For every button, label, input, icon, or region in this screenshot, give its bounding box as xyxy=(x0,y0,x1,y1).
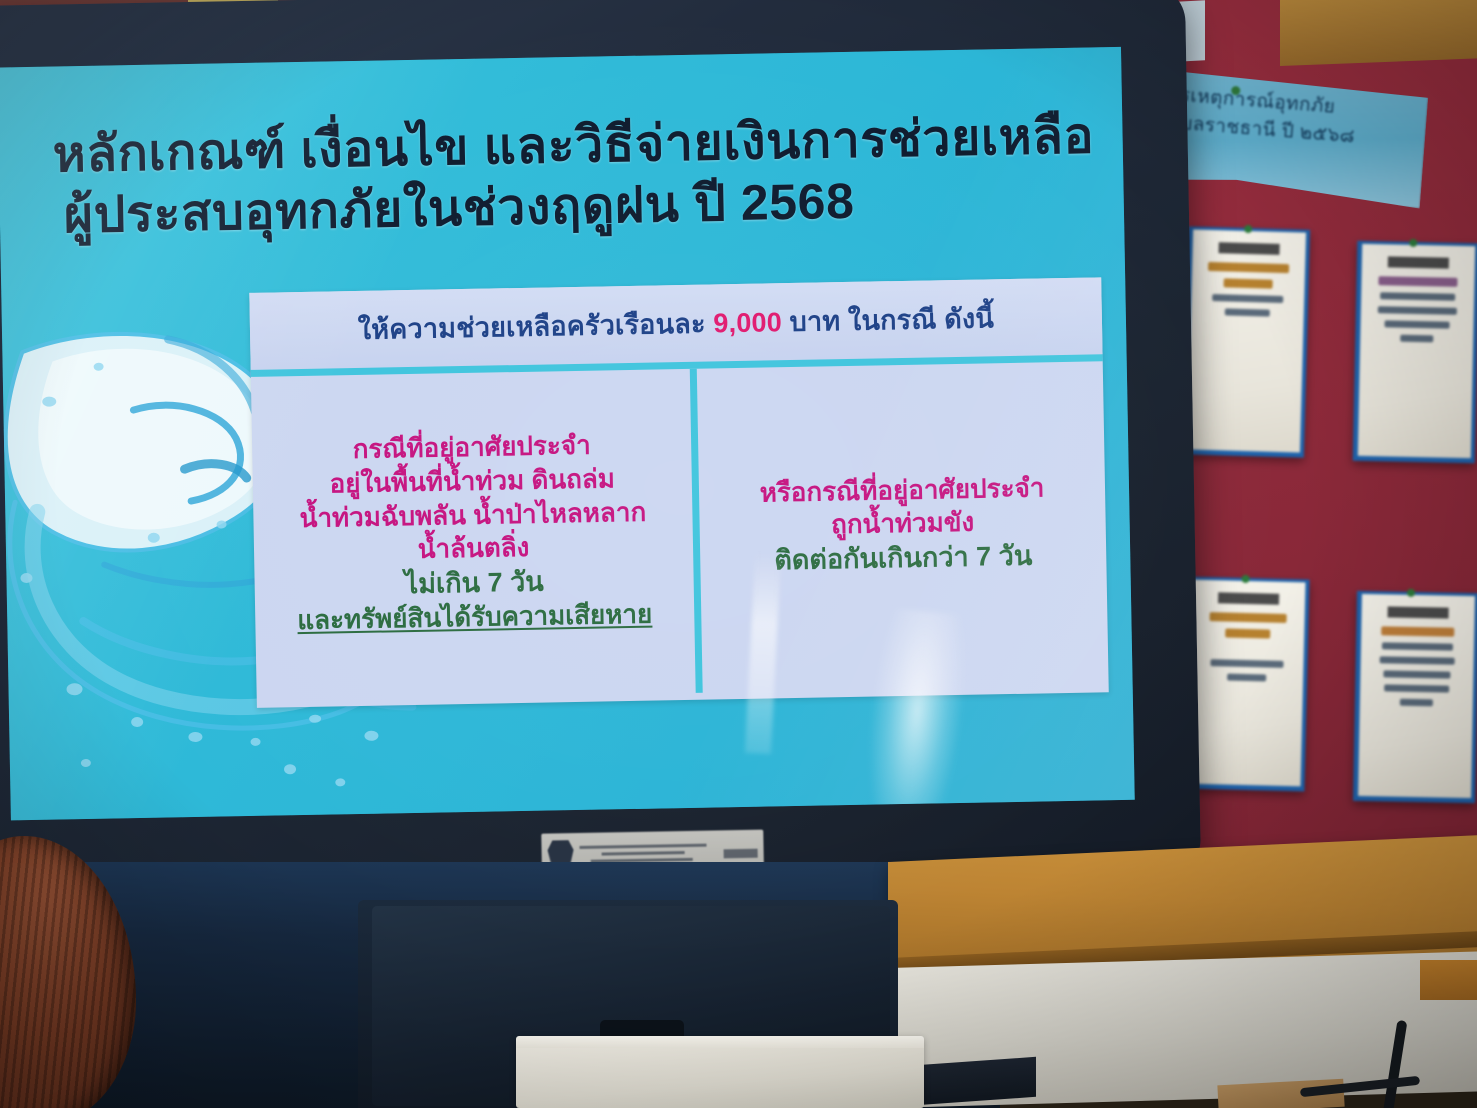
case-right-line-3: ติดต่อกันเกินกว่า 7 วัน xyxy=(774,539,1033,579)
document-text-line xyxy=(1384,320,1450,328)
document-text-line xyxy=(1227,674,1266,682)
document-title-line xyxy=(1225,628,1270,638)
posted-document-3 xyxy=(1182,577,1309,792)
wood-trim-upper xyxy=(1280,0,1477,66)
presentation-slide: หลักเกณฑ์ เงื่อนไข และวิธีจ่ายเงินการช่ว… xyxy=(0,47,1135,820)
case-right-line-2: ถูกน้ำท่วมขัง xyxy=(831,506,975,542)
case-right-line-1: หรือกรณีที่อยู่อาศัยประจำ xyxy=(759,471,1044,510)
case-left-line-3: น้ำท่วมฉับพลัน น้ำป่าไหลหลาก xyxy=(299,495,646,535)
document-text-line xyxy=(1382,642,1452,650)
document-title-line xyxy=(1382,626,1454,636)
document-title-line xyxy=(1208,262,1290,273)
case-column-right: หรือกรณีที่อยู่อาศัยประจำ ถูกน้ำท่วมขัง … xyxy=(697,361,1109,692)
desk-side-panel xyxy=(1420,960,1477,1000)
header-prefix: ให้ความช่วยเหลือครัวเรือนละ xyxy=(358,308,714,345)
document-header-bar xyxy=(1388,256,1449,268)
case-left-line-4: น้ำล้นตลิ่ง xyxy=(417,531,529,567)
case-left-line-1: กรณีที่อยู่อาศัยประจำ xyxy=(352,429,591,467)
photo-scene: สรุปปัญหาการเหตุการณ์อุทกภัย จังหวัดอุบล… xyxy=(0,0,1477,1108)
certification-mark-icon xyxy=(724,849,758,859)
document-text-line xyxy=(1399,699,1433,707)
content-card: ให้ความช่วยเหลือครัวเรือนละ 9,000 บาท ใน… xyxy=(249,277,1108,708)
case-left-line-6: และทรัพย์สินได้รับความเสียหาย xyxy=(297,598,652,638)
card-header: ให้ความช่วยเหลือครัวเรือนละ 9,000 บาท ใน… xyxy=(249,277,1102,377)
tv-screen: หลักเกณฑ์ เงื่อนไข และวิธีจ่ายเงินการช่ว… xyxy=(0,47,1135,820)
posted-document-2 xyxy=(1353,241,1477,464)
document-title-line xyxy=(1223,278,1273,288)
header-suffix: บาท ในกรณี ดังนี้ xyxy=(782,303,995,337)
television-display: หลักเกณฑ์ เงื่อนไข และวิธีจ่ายเงินการช่ว… xyxy=(0,0,1201,896)
document-text-line xyxy=(1378,306,1457,315)
document-text-line xyxy=(1384,684,1450,692)
document-text-line xyxy=(1380,292,1455,301)
document-text-line xyxy=(1225,308,1270,316)
document-header-bar xyxy=(1218,242,1279,255)
document-text-line xyxy=(1383,670,1451,678)
white-equipment-box xyxy=(516,1040,924,1108)
posted-document-4 xyxy=(1353,591,1477,803)
document-text-line xyxy=(1213,294,1283,303)
slide-title: หลักเกณฑ์ เงื่อนไข และวิธีจ่ายเงินการช่ว… xyxy=(52,105,1114,246)
case-left-line-2: อยู่ในพื้นที่น้ำท่วม ดินถล่ม xyxy=(329,462,615,501)
card-header-text: ให้ความช่วยเหลือครัวเรือนละ 9,000 บาท ใน… xyxy=(357,296,994,351)
posted-document-1 xyxy=(1182,226,1310,457)
case-column-left: กรณีที่อยู่อาศัยประจำ อยู่ในพื้นที่น้ำท่… xyxy=(251,369,703,701)
document-text-line xyxy=(1211,659,1283,668)
document-header-bar xyxy=(1218,592,1279,604)
card-columns: กรณีที่อยู่อาศัยประจำ อยู่ในพื้นที่น้ำท่… xyxy=(251,361,1109,701)
document-title-line xyxy=(1210,612,1287,623)
document-text-line xyxy=(1400,335,1434,343)
case-left-line-5: ไม่เกิน 7 วัน xyxy=(404,565,544,603)
white-equipment-box-top xyxy=(516,1036,924,1048)
assistance-amount: 9,000 xyxy=(713,307,782,338)
document-text-line xyxy=(1380,656,1455,664)
document-header-bar xyxy=(1388,606,1449,618)
document-title-line xyxy=(1378,276,1457,287)
